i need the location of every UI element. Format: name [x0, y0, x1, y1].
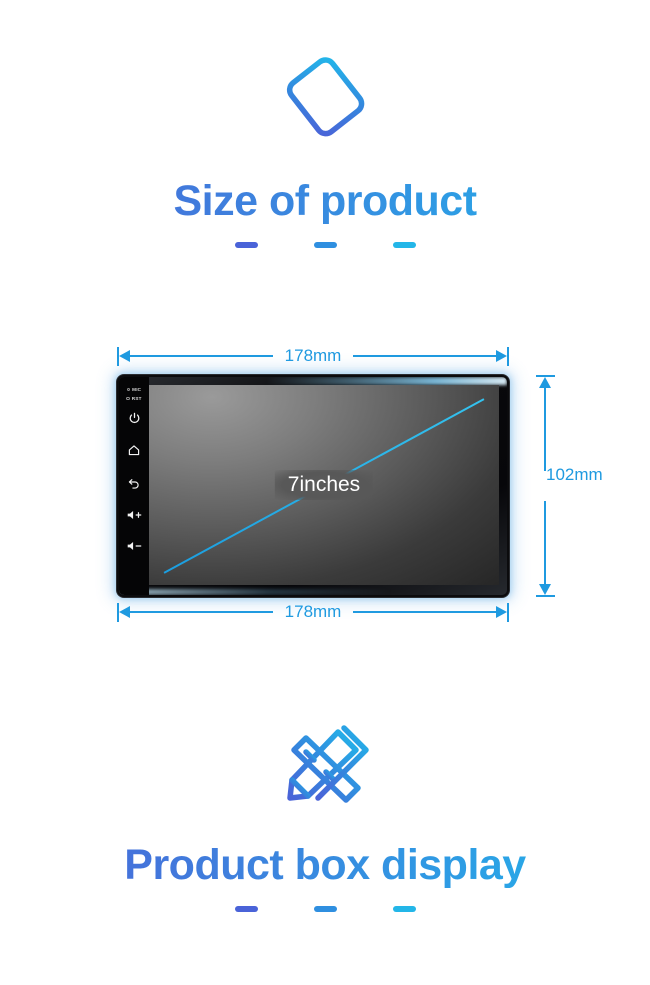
arrow-left-icon [119, 350, 130, 362]
back-icon[interactable] [127, 477, 141, 490]
dimension-cap-right [507, 603, 509, 622]
reset-hole-icon [126, 397, 129, 400]
microphone-hole-icon [127, 388, 130, 391]
product-box-display-section-header: Product box display [0, 714, 650, 912]
device-screen: 7inches [149, 385, 499, 585]
bezel-highlight-bottom [119, 589, 391, 595]
arrow-up-icon [539, 377, 551, 388]
dimension-cap-bottom [536, 595, 555, 597]
dimension-width-top: 178mm [117, 344, 509, 368]
screen-size-label: 7inches [275, 470, 373, 500]
dimension-line [130, 611, 273, 613]
rst-label: RST [132, 396, 142, 401]
dash-2 [314, 242, 337, 248]
arrow-right-icon [496, 606, 507, 618]
arrow-down-icon [539, 584, 551, 595]
dimension-height-label: 102mm [546, 465, 603, 485]
dash-row [0, 906, 650, 912]
dimension-line [130, 355, 273, 357]
dimension-line [353, 355, 496, 357]
dimension-width-bottom: 178mm [117, 600, 509, 624]
device-button-column: MIC RST [119, 377, 149, 595]
arrow-right-icon [496, 350, 507, 362]
dimension-cap-right [507, 347, 509, 366]
dimension-label: 178mm [273, 346, 354, 366]
pencil-ruler-icon [0, 714, 650, 815]
bezel-highlight-top [266, 377, 507, 385]
home-icon[interactable] [127, 444, 141, 457]
ruler-icon [0, 48, 650, 149]
dash-3 [393, 906, 416, 912]
dimension-line [544, 501, 546, 584]
volume-down-icon[interactable] [126, 540, 143, 552]
volume-up-icon[interactable] [126, 509, 143, 521]
car-stereo-device: MIC RST [117, 375, 509, 597]
section-title: Size of product [0, 177, 650, 225]
dimension-line [353, 611, 496, 613]
dash-1 [235, 906, 258, 912]
mic-label: MIC [132, 387, 141, 392]
size-of-product-section-header: Size of product [0, 48, 650, 248]
dimension-label: 178mm [273, 602, 354, 622]
device-bezel: MIC RST [119, 377, 507, 595]
dash-2 [314, 906, 337, 912]
dimension-height-right [533, 375, 557, 597]
size-diagram: 178mm MIC RST [0, 330, 650, 640]
power-icon[interactable] [128, 412, 141, 425]
rst-pinhole-label: RST [126, 394, 141, 403]
dimension-line [544, 388, 546, 471]
section-title: Product box display [0, 841, 650, 889]
dash-3 [393, 242, 416, 248]
dash-1 [235, 242, 258, 248]
product-size-page: Size of product 178mm [0, 0, 650, 985]
arrow-left-icon [119, 606, 130, 618]
mic-pinhole-label: MIC [127, 385, 141, 394]
dash-row [0, 242, 650, 248]
